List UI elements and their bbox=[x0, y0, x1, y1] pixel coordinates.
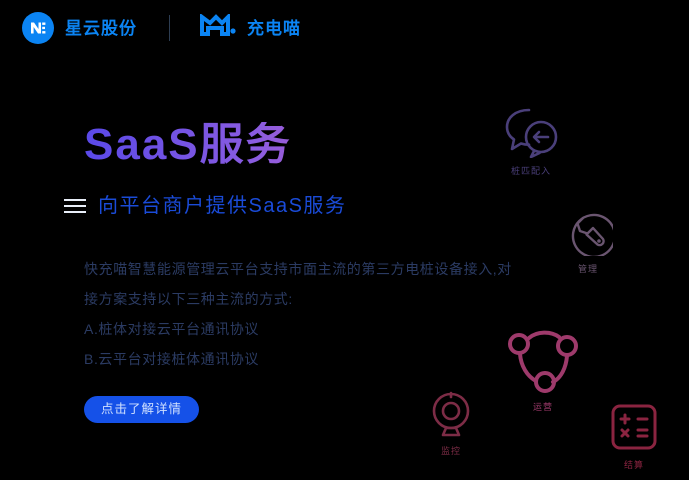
brand-secondary[interactable]: 充电喵 bbox=[200, 14, 301, 43]
feature-chat[interactable]: 桩匹配入 bbox=[500, 104, 562, 176]
feature-chat-label: 桩匹配入 bbox=[511, 167, 551, 176]
feature-manage-label: 管理 bbox=[578, 265, 598, 274]
brand-primary[interactable]: 星云股份 bbox=[22, 12, 137, 44]
hero-subtitle: 向平台商户提供SaaS服务 bbox=[98, 196, 346, 216]
feature-manage[interactable]: 管理 bbox=[563, 206, 613, 274]
feature-monitor-label: 监控 bbox=[441, 447, 461, 456]
xingyun-logo-icon bbox=[22, 12, 54, 44]
brand-primary-label: 星云股份 bbox=[65, 20, 137, 37]
learn-more-button[interactable]: 点击了解详情 bbox=[84, 396, 199, 423]
network-share-icon bbox=[505, 324, 581, 399]
header-divider bbox=[169, 15, 170, 41]
wrench-icon bbox=[563, 206, 613, 261]
hero-subtitle-row: 向平台商户提供SaaS服务 bbox=[64, 196, 604, 216]
page-header: 星云股份 充电喵 bbox=[0, 0, 689, 56]
body-line-2: 接方案支持以下三种主流的方式: bbox=[84, 284, 584, 314]
chat-bubbles-icon bbox=[500, 104, 562, 163]
monitor-icon bbox=[428, 390, 474, 443]
calculator-icon bbox=[609, 402, 659, 457]
feature-network[interactable]: 运营 bbox=[505, 324, 581, 412]
feature-settlement[interactable]: 结算 bbox=[609, 402, 659, 470]
feature-settlement-label: 结算 bbox=[624, 461, 644, 470]
body-line-1: 快充喵智慧能源管理云平台支持市面主流的第三方电桩设备接入,对 bbox=[84, 254, 584, 284]
hamburger-icon[interactable] bbox=[64, 199, 86, 213]
chongdianmiao-logo-icon bbox=[200, 14, 240, 43]
feature-monitor[interactable]: 监控 bbox=[428, 390, 474, 456]
brand-secondary-label: 充电喵 bbox=[247, 20, 301, 37]
feature-network-label: 运营 bbox=[533, 403, 553, 412]
